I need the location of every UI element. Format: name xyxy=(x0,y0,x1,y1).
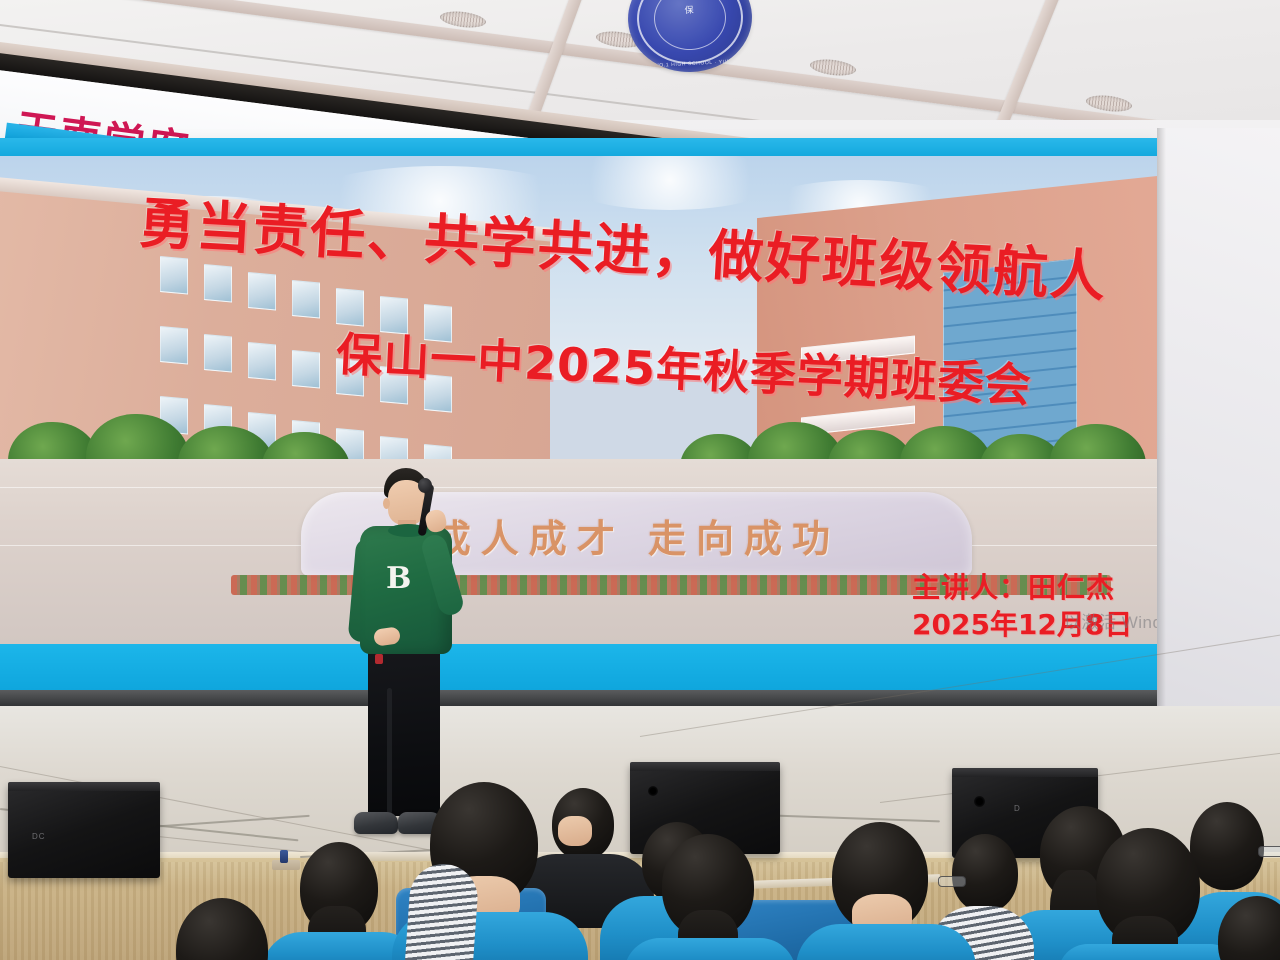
audience-shoulders xyxy=(624,938,796,960)
windows-activation-watermark: 以激活 Windows. xyxy=(1064,608,1157,633)
plaza-joint-line xyxy=(0,487,1157,488)
presenter-pocket-tag xyxy=(375,654,383,664)
window xyxy=(204,264,232,303)
audience-shoulders xyxy=(404,862,480,960)
window xyxy=(248,272,276,311)
audience xyxy=(0,760,1280,960)
audience-neck xyxy=(558,816,592,846)
presenter-sweatshirt-logo: B xyxy=(386,564,411,594)
presenter-ear-left xyxy=(383,498,390,509)
slide: 成人成才 走向成功 勇当责任、共学共进，做好班级领航人 保山一中2025年秋季学… xyxy=(0,138,1157,690)
school-seal: 云南省保山第一中学 保 THE NO.1 HIGH SCHOOL · YUNNA… xyxy=(625,0,754,75)
window xyxy=(160,256,188,295)
window xyxy=(204,334,232,373)
audience-head xyxy=(176,898,268,960)
projection-screen: 成人成才 走向成功 勇当责任、共学共进，做好班级领航人 保山一中2025年秋季学… xyxy=(0,138,1157,690)
cloud-2 xyxy=(560,156,780,210)
ceiling-speaker-grille-1 xyxy=(439,9,486,29)
photo-scene: 云南省保山第一中学 保 THE NO.1 HIGH SCHOOL · YUNNA… xyxy=(0,0,1280,960)
audience-glasses xyxy=(1258,846,1280,857)
ceiling-speaker-grille-3 xyxy=(809,57,856,77)
window xyxy=(248,342,276,381)
microphone-head xyxy=(418,478,432,493)
slide-bottom-cyan-band xyxy=(0,644,1157,690)
slide-presenter-label: 主讲人：田仁杰 xyxy=(912,566,1115,606)
audience-shoulders xyxy=(796,924,976,960)
audience-head xyxy=(952,834,1018,912)
right-wall xyxy=(1157,128,1280,708)
window xyxy=(292,280,320,319)
slide-top-cyan-band xyxy=(0,138,1157,156)
window xyxy=(292,350,320,389)
audience-head xyxy=(1190,802,1264,890)
audience-glasses xyxy=(938,876,966,887)
audience-shoulders xyxy=(1058,944,1240,960)
window xyxy=(160,326,188,365)
screen-edge-shadow xyxy=(1157,128,1166,708)
